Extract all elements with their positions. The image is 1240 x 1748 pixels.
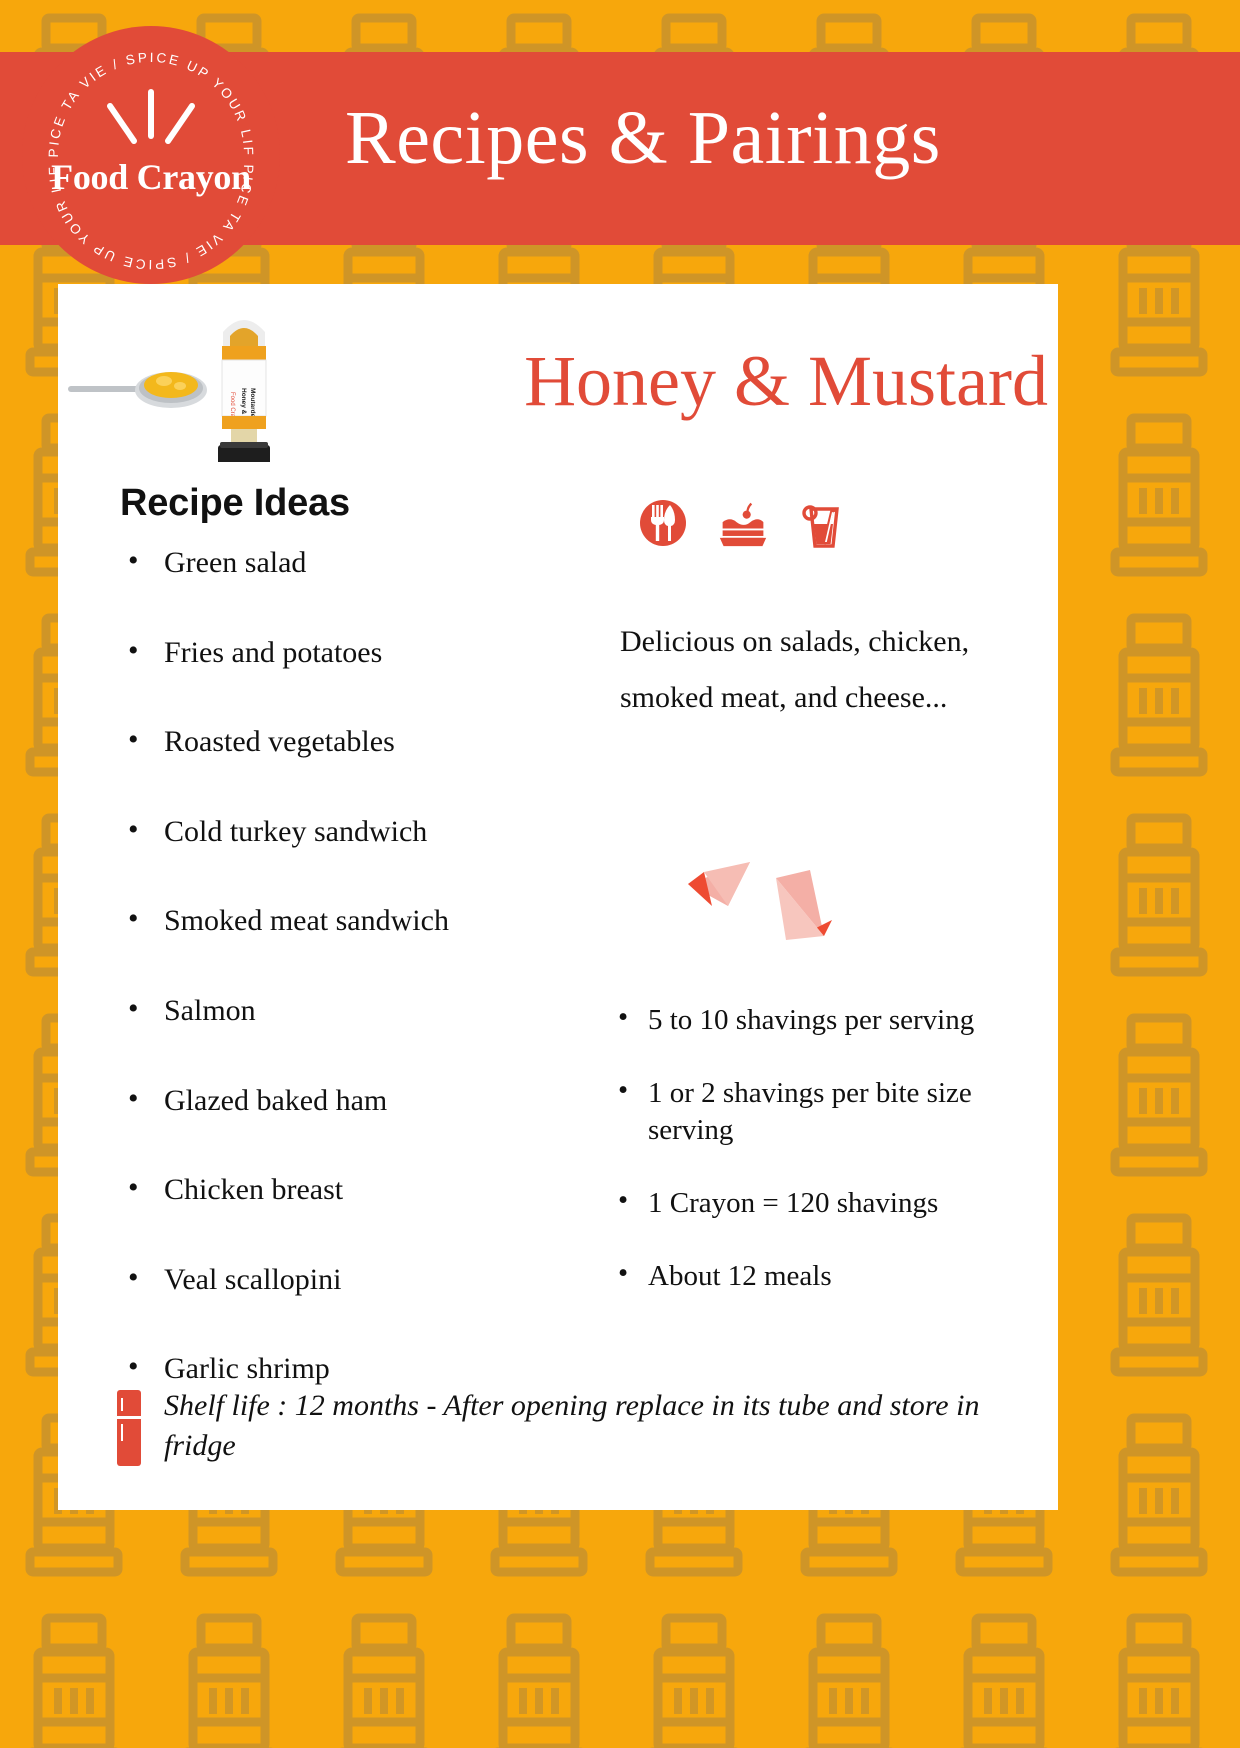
list-item: Fries and potatoes [122, 636, 592, 670]
list-item: 1 or 2 shavings per bite size serving [614, 1075, 1054, 1149]
list-item: 5 to 10 shavings per serving [614, 1002, 1054, 1039]
brand-wordmark: Food Crayon [22, 156, 280, 198]
flavour-title: Honey & Mustard [358, 344, 1048, 420]
fork-knife-icon [638, 496, 688, 550]
cake-slice-icon [718, 496, 768, 550]
product-photo: Food Crayon Honey & Mustard Moutarde & M… [68, 302, 338, 462]
list-item: Chicken breast [122, 1173, 592, 1207]
drink-glass-icon [798, 496, 848, 550]
pairing-description: Delicious on salads, chicken, smoked mea… [620, 614, 1040, 727]
list-item: Salmon [122, 994, 592, 1028]
list-item: Veal scallopini [122, 1263, 592, 1297]
brand-logo-badge: ÉPICE TA VIE / SPICE UP YOUR LIFE ÉPICE … [22, 26, 280, 284]
logo-tagline-top: ÉPICE TA VIE / SPICE UP YOUR LIFE [22, 26, 256, 158]
list-item: Garlic shrimp [122, 1352, 592, 1386]
shelf-life-text: Shelf life : 12 months - After opening r… [164, 1386, 1026, 1466]
shavings-decoration [658, 844, 858, 954]
list-item: Roasted vegetables [122, 725, 592, 759]
list-item: Cold turkey sandwich [122, 815, 592, 849]
list-item: 1 Crayon = 120 shavings [614, 1185, 1054, 1222]
page-title: Recipes & Pairings [345, 100, 941, 176]
sunburst-icon [110, 92, 192, 141]
content-card: Food Crayon Honey & Mustard Moutarde & M… [58, 284, 1058, 1510]
refrigerator-icon [116, 1390, 142, 1466]
list-item: Green salad [122, 546, 592, 580]
recipe-ideas-list: Green salad Fries and potatoes Roasted v… [122, 546, 592, 1442]
recipe-ideas-heading: Recipe Ideas [120, 482, 350, 525]
usage-list: 5 to 10 shavings per serving 1 or 2 shav… [614, 1002, 1054, 1332]
svg-text:ÉPICE TA VIE / SPICE UP YOUR L: ÉPICE TA VIE / SPICE UP YOUR LIFE [22, 26, 256, 158]
list-item: Smoked meat sandwich [122, 904, 592, 938]
shelf-life-note: Shelf life : 12 months - After opening r… [116, 1386, 1026, 1466]
food-crayon-tube: Food Crayon Honey & Mustard Moutarde & M… [218, 320, 270, 462]
list-item: Glazed baked ham [122, 1084, 592, 1118]
pairing-icon-row [638, 496, 848, 550]
list-item: About 12 meals [614, 1258, 1054, 1295]
spoon-icon [68, 372, 207, 408]
